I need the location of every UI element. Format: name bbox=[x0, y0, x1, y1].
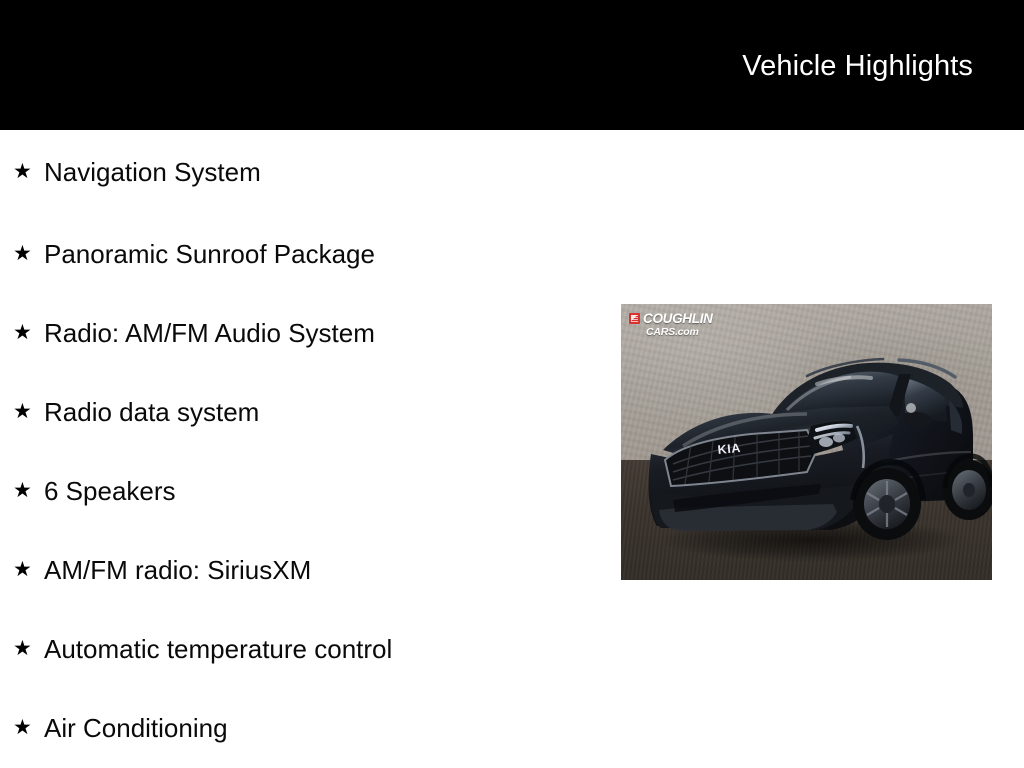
highlight-label: Radio data system bbox=[44, 397, 259, 427]
page-title: Vehicle Highlights bbox=[742, 49, 973, 83]
list-item: ★ AM/FM radio: SiriusXM bbox=[0, 530, 600, 609]
vehicle-highlights-list: ★ Navigation System ★ Panoramic Sunroof … bbox=[0, 130, 600, 767]
list-item: ★ Radio data system bbox=[0, 372, 600, 451]
star-icon: ★ bbox=[13, 161, 32, 182]
highlight-label: Navigation System bbox=[44, 157, 261, 187]
star-icon: ★ bbox=[13, 480, 32, 501]
highlight-label: Panoramic Sunroof Package bbox=[44, 239, 375, 269]
highlight-label: Radio: AM/FM Audio System bbox=[44, 318, 375, 348]
star-icon: ★ bbox=[13, 717, 32, 738]
highlight-label: 6 Speakers bbox=[44, 476, 176, 506]
star-icon: ★ bbox=[13, 559, 32, 580]
star-icon: ★ bbox=[13, 401, 32, 422]
highlight-label: Air Conditioning bbox=[44, 713, 228, 743]
star-icon: ★ bbox=[13, 243, 32, 264]
star-icon: ★ bbox=[13, 638, 32, 659]
header-bar: Vehicle Highlights bbox=[0, 0, 1024, 130]
list-item: ★ Panoramic Sunroof Package bbox=[0, 214, 600, 293]
list-item: ★ Navigation System bbox=[0, 130, 600, 214]
list-item: ★ Radio: AM/FM Audio System bbox=[0, 293, 600, 372]
vehicle-photo: KIA bbox=[621, 304, 992, 580]
vehicle-illustration: KIA bbox=[621, 304, 992, 580]
list-item: ★ 6 Speakers bbox=[0, 451, 600, 530]
list-item: ★ Automatic temperature control bbox=[0, 609, 600, 688]
highlight-label: Automatic temperature control bbox=[44, 634, 392, 664]
list-item: ★ Air Conditioning bbox=[0, 688, 600, 767]
svg-text:KIA: KIA bbox=[717, 441, 741, 457]
star-icon: ★ bbox=[13, 322, 32, 343]
highlight-label: AM/FM radio: SiriusXM bbox=[44, 555, 311, 585]
